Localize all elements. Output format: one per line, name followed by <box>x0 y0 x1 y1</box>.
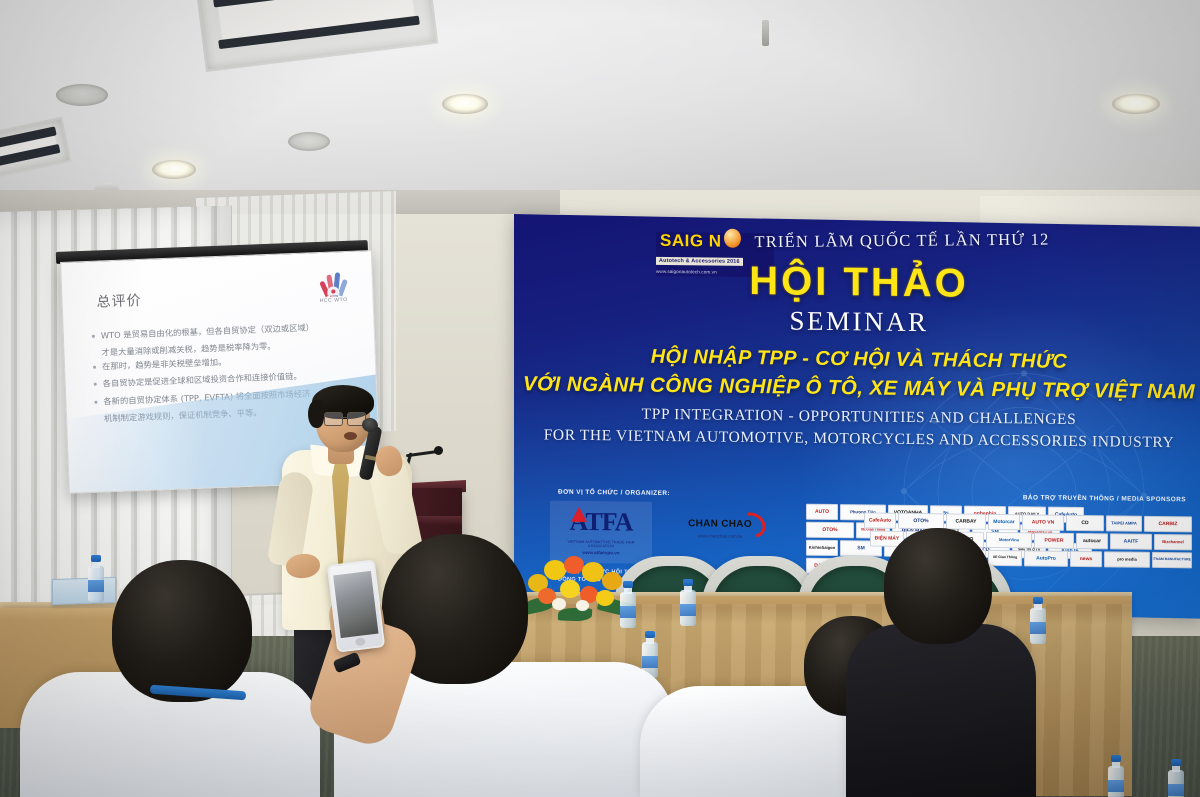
ceiling-downlight-icon <box>442 94 488 114</box>
banner-subtitle-en-2: FOR THE VIETNAM AUTOMOTIVE, MOTORCYCLES … <box>514 426 1200 452</box>
organizer-label: ĐƠN VỊ TỔ CHỨC / ORGANIZER: <box>558 489 670 497</box>
banner-subtitle-vn-2: VỚI NGÀNH CÔNG NGHIỆP Ô TÔ, XE MÁY VÀ PH… <box>514 372 1200 404</box>
banner-event-line: TRIỂN LÃM QUỐC TẾ LẦN THỨ 12 <box>752 230 1052 253</box>
smartphone-screen <box>333 571 378 638</box>
slide-title: 总评价 <box>96 290 142 312</box>
conference-photo-scene: 总评价 HCC WTO WTO 是贸易自由化的根基，但各自贸协定（双边或区域） … <box>0 0 1200 797</box>
sponsor-logo: CARBIZ <box>1144 516 1192 533</box>
chanchao-logo: CHAN CHAO www.chanchao.com.tw <box>672 518 768 539</box>
sponsor-logo: CafeAuto <box>864 512 896 528</box>
speaker-mouth <box>344 432 357 440</box>
sponsor-logo: VIETNAM MANUFACTURERS <box>1152 552 1192 568</box>
sponsor-logo: Bizchannel <box>1154 534 1192 550</box>
hcc-wto-logo-text: HCC WTO <box>313 297 355 305</box>
banner-subtitle-vn-1: HỘI NHẬP TPP - CƠ HỘI VÀ THÁCH THỨC <box>514 344 1200 375</box>
ceiling-downlight-icon <box>152 160 196 179</box>
sponsor-logo: POWER <box>1034 532 1074 548</box>
podium-mic-icon <box>434 446 443 455</box>
sponsor-logo: news <box>1070 551 1102 567</box>
water-bottle-icon <box>1168 760 1184 797</box>
sponsor-logo: autocar <box>1076 533 1108 549</box>
hcc-wto-logo-icon: HCC WTO <box>312 270 356 314</box>
sponsor-logo: pro media <box>1104 551 1150 568</box>
chanchao-logo-word: CHAN CHAO <box>672 518 768 530</box>
audience-head <box>112 560 252 702</box>
sponsor-logo: TAIPEI AMPA <box>1106 515 1142 531</box>
audience-jacket <box>846 624 1036 797</box>
sponsor-logo: AUTO <box>806 504 838 520</box>
sponsor-logo: AAITF <box>1110 533 1152 550</box>
ceiling-downlight-icon <box>288 132 330 151</box>
banner-headline-vn: HỘI THẢO <box>514 256 1200 309</box>
saigon-logo-orb-icon <box>724 229 741 248</box>
water-bottle-icon <box>1108 756 1124 797</box>
ceiling-downlight-icon <box>1112 94 1160 114</box>
glasses-icon <box>324 412 366 424</box>
audience-member-left <box>20 560 320 797</box>
ceiling-downlight-icon <box>56 84 108 106</box>
sponsor-logo: OTO% <box>898 513 944 530</box>
smartphone-home-button[interactable] <box>355 637 366 646</box>
sprinkler-icon <box>762 20 769 46</box>
atfa-triangle-icon <box>571 507 587 522</box>
audience-member-far-right <box>846 528 1036 797</box>
sponsor-logo: KinhteSaigon <box>806 540 838 556</box>
speaker-hair-side <box>308 400 324 428</box>
media-sponsors-label: BẢO TRỢ TRUYỀN THÔNG / MEDIA SPONSORS <box>1023 494 1186 503</box>
audience-head <box>884 528 992 644</box>
sponsor-logo: CD <box>1066 515 1104 531</box>
